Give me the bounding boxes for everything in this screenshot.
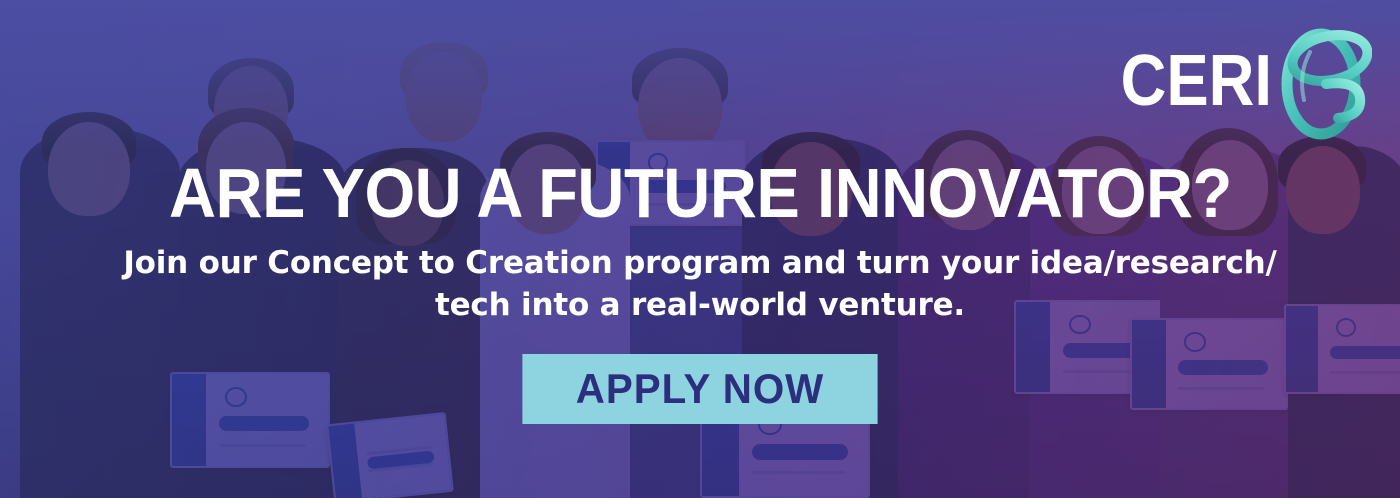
cta-container: APPLY NOW	[515, 354, 885, 424]
subheading-line-1: Join our Concept to Creation program and…	[123, 245, 1276, 281]
ceri-logo[interactable]: CERI	[1100, 22, 1372, 140]
subheading: Join our Concept to Creation program and…	[123, 242, 1276, 326]
ceri-wordmark: CERI	[1121, 50, 1272, 112]
page-title: ARE YOU A FUTURE INNOVATOR?	[169, 160, 1232, 226]
apply-now-button[interactable]: APPLY NOW	[522, 354, 877, 424]
promo-banner: CERI	[0, 0, 1400, 498]
subheading-line-2: tech into a real-world venture.	[435, 287, 965, 323]
ceri-ribbon-logo-icon	[1280, 22, 1372, 140]
